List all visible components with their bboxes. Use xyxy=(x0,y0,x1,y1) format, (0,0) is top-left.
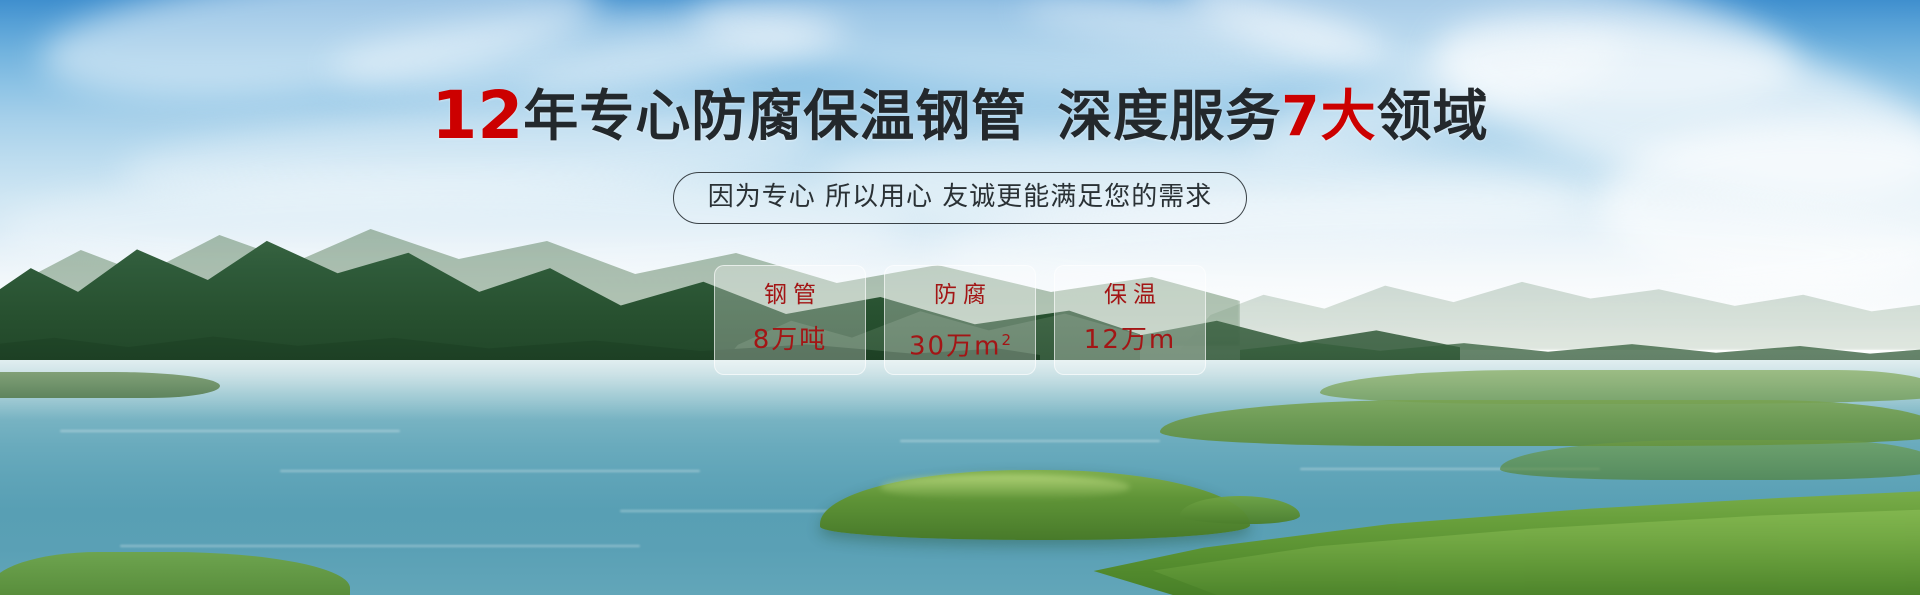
banner-subtitle-wrapper: 因为专心 所以用心 友诚更能满足您的需求 xyxy=(0,172,1920,224)
headline-text-secondary: 深度服务 xyxy=(1057,84,1281,148)
headline-text-primary: 年专心防腐保温钢管 xyxy=(523,84,1027,148)
stat-card-label: 防腐 xyxy=(897,280,1023,310)
headline-years-number: 12 xyxy=(431,77,523,154)
stat-card-anticorrosion: 防腐 30万m2 xyxy=(884,265,1036,375)
stat-card-value-text: 12万m xyxy=(1084,325,1176,355)
banner-content: 12年专心防腐保温钢管深度服务7大领域 因为专心 所以用心 友诚更能满足您的需求… xyxy=(0,0,1920,595)
stat-card-label: 钢管 xyxy=(727,280,853,310)
banner-headline: 12年专心防腐保温钢管深度服务7大领域 xyxy=(0,84,1920,148)
stat-card-value: 12万m xyxy=(1067,324,1193,356)
stat-card-value-text: 8万吨 xyxy=(753,325,828,355)
stat-card-insulation: 保温 12万m xyxy=(1054,265,1206,375)
headline-text-tertiary: 领域 xyxy=(1377,84,1489,148)
hero-banner: 12年专心防腐保温钢管深度服务7大领域 因为专心 所以用心 友诚更能满足您的需求… xyxy=(0,0,1920,595)
stat-card-value-superscript: 2 xyxy=(1001,331,1011,349)
stat-card-value: 8万吨 xyxy=(727,324,853,356)
banner-subtitle-pill: 因为专心 所以用心 友诚更能满足您的需求 xyxy=(673,172,1248,224)
stat-card-value-text: 30万m xyxy=(909,332,1001,362)
stat-card-value: 30万m2 xyxy=(897,324,1023,363)
stat-card-label: 保温 xyxy=(1067,280,1193,310)
stat-card-steel-pipe: 钢管 8万吨 xyxy=(714,265,866,375)
stat-card-group: 钢管 8万吨 防腐 30万m2 保温 12万m xyxy=(0,265,1920,375)
headline-highlight-fields: 7大 xyxy=(1281,84,1376,148)
